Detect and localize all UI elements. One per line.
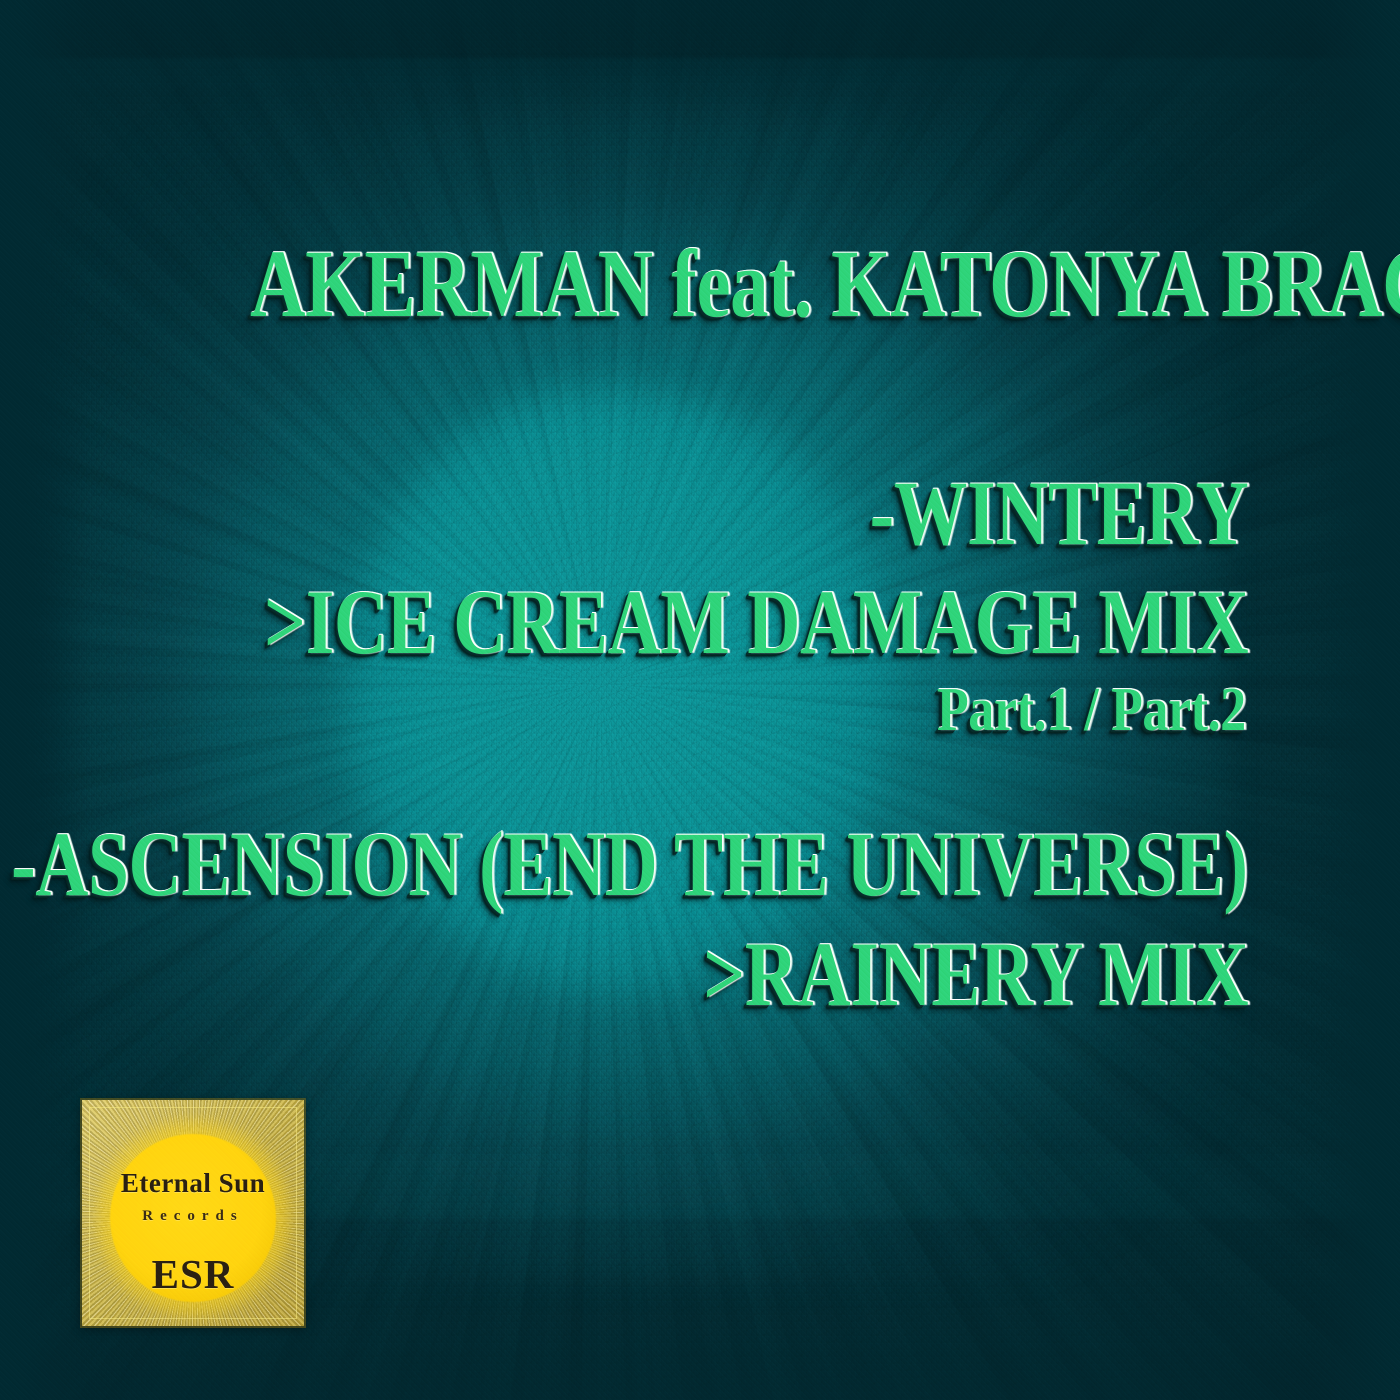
album-cover: AKERMAN feat. KATONYA BRACE -WINTERY >IC… — [0, 0, 1400, 1400]
record-label-logo: Eternal Sun Records ESR — [82, 1100, 304, 1326]
track-1-title: -WINTERY — [869, 467, 1248, 559]
logo-label-initials: ESR — [82, 1250, 304, 1298]
track-1-parts-label: Part.1 / Part.2 — [937, 679, 1246, 741]
track-2-title: -ASCENSION (END THE UNIVERSE) — [12, 818, 1248, 910]
logo-label-name: Eternal Sun — [82, 1168, 304, 1199]
track-1-mix-title: >ICE CREAM DAMAGE MIX — [264, 576, 1248, 668]
artist-title: AKERMAN feat. KATONYA BRACE — [250, 236, 1400, 332]
track-2-mix-title: >RAINERY MIX — [703, 928, 1248, 1020]
logo-label-subtitle: Records — [82, 1208, 304, 1225]
